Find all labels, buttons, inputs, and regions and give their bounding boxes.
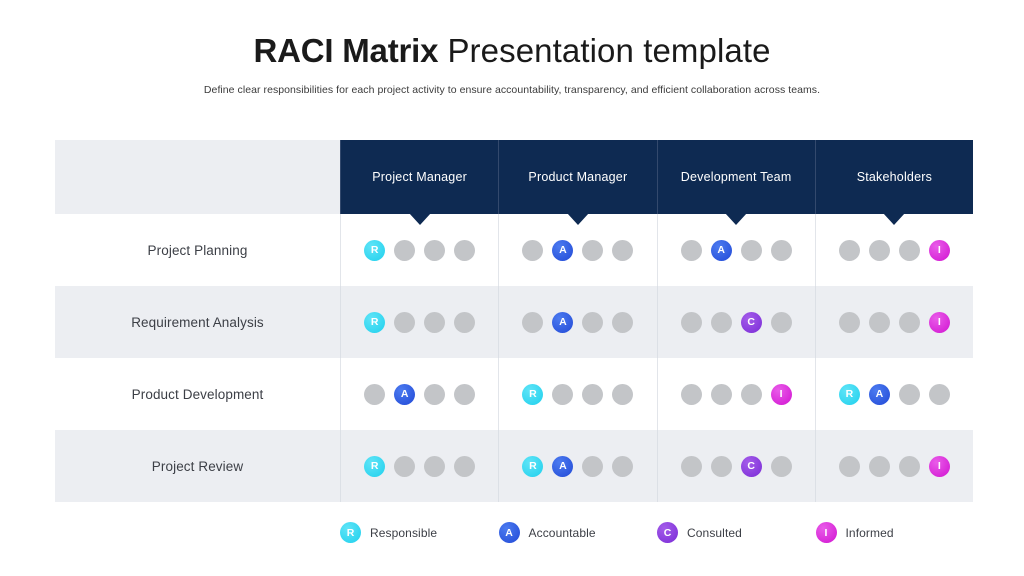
raci-badge-empty: [612, 456, 633, 477]
legend-badge-a: A: [499, 522, 520, 543]
legend-badge-i: I: [816, 522, 837, 543]
raci-badge-empty: [582, 456, 603, 477]
column-header-label: Product Manager: [528, 170, 627, 184]
raci-badge-c[interactable]: C: [741, 456, 762, 477]
raci-badge-empty: [711, 456, 732, 477]
title-light: Presentation template: [447, 32, 770, 69]
raci-badge-empty: [454, 384, 475, 405]
pointer-triangle-icon: [409, 213, 431, 225]
raci-cell[interactable]: A: [340, 358, 498, 430]
raci-cell[interactable]: R: [340, 430, 498, 502]
raci-badge-empty: [899, 240, 920, 261]
raci-cell[interactable]: R: [340, 286, 498, 358]
raci-badge-empty: [424, 456, 445, 477]
raci-badge-empty: [612, 312, 633, 333]
raci-badge-r[interactable]: R: [364, 240, 385, 261]
column-header-stakeholders[interactable]: Stakeholders: [815, 140, 973, 214]
raci-badge-empty: [869, 312, 890, 333]
title-block: RACI Matrix Presentation template Define…: [0, 30, 1024, 97]
pointer-triangle-icon: [725, 213, 747, 225]
legend-item-consulted: CConsulted: [657, 522, 816, 543]
title-strong: RACI Matrix: [253, 32, 438, 69]
raci-badge-empty: [364, 384, 385, 405]
raci-badge-empty: [839, 456, 860, 477]
raci-badge-empty: [929, 384, 950, 405]
raci-badge-empty: [681, 384, 702, 405]
raci-badge-i[interactable]: I: [771, 384, 792, 405]
raci-badge-empty: [741, 384, 762, 405]
raci-cell[interactable]: RA: [815, 358, 973, 430]
raci-badge-a[interactable]: A: [552, 456, 573, 477]
pointer-triangle-icon: [883, 213, 905, 225]
table-row: Product DevelopmentARIRA: [55, 358, 973, 430]
raci-matrix-table: Project Manager Product Manager Developm…: [55, 140, 973, 502]
row-label-cell: Project Planning: [55, 214, 340, 286]
raci-cell[interactable]: I: [657, 358, 815, 430]
raci-badge-empty: [424, 312, 445, 333]
raci-badge-empty: [454, 240, 475, 261]
raci-badge-empty: [839, 312, 860, 333]
raci-badge-empty: [839, 240, 860, 261]
legend-badge-r: R: [340, 522, 361, 543]
raci-badge-empty: [522, 312, 543, 333]
raci-matrix-slide: RACI Matrix Presentation template Define…: [0, 0, 1024, 576]
legend: RResponsibleAAccountableCConsultedIInfor…: [340, 522, 974, 543]
raci-badge-empty: [711, 312, 732, 333]
raci-badge-empty: [582, 240, 603, 261]
legend-badge-c: C: [657, 522, 678, 543]
raci-badge-empty: [899, 312, 920, 333]
raci-badge-empty: [454, 312, 475, 333]
raci-badge-r[interactable]: R: [522, 456, 543, 477]
row-label-cell: Product Development: [55, 358, 340, 430]
raci-badge-empty: [681, 240, 702, 261]
raci-badge-r[interactable]: R: [364, 312, 385, 333]
raci-badge-empty: [552, 384, 573, 405]
table-row: Requirement AnalysisRACI: [55, 286, 973, 358]
page-subtitle: Define clear responsibilities for each p…: [0, 83, 1024, 97]
column-header-label: Project Manager: [372, 170, 467, 184]
row-label: Project Review: [152, 459, 243, 474]
raci-badge-empty: [454, 456, 475, 477]
raci-badge-empty: [771, 456, 792, 477]
raci-badge-a[interactable]: A: [552, 240, 573, 261]
legend-label: Responsible: [370, 526, 437, 540]
raci-badge-empty: [899, 456, 920, 477]
raci-badge-empty: [771, 240, 792, 261]
raci-badge-i[interactable]: I: [929, 240, 950, 261]
raci-cell[interactable]: C: [657, 430, 815, 502]
raci-badge-empty: [394, 312, 415, 333]
raci-badge-a[interactable]: A: [869, 384, 890, 405]
raci-badge-empty: [741, 240, 762, 261]
raci-badge-empty: [424, 384, 445, 405]
legend-item-informed: IInformed: [816, 522, 975, 543]
column-header-project-manager[interactable]: Project Manager: [340, 140, 498, 214]
raci-badge-empty: [681, 312, 702, 333]
raci-badge-r[interactable]: R: [839, 384, 860, 405]
raci-badge-empty: [869, 456, 890, 477]
column-header-development-team[interactable]: Development Team: [657, 140, 815, 214]
raci-badge-empty: [394, 240, 415, 261]
row-label-cell: Project Review: [55, 430, 340, 502]
column-header-product-manager[interactable]: Product Manager: [498, 140, 656, 214]
pointer-triangle-icon: [567, 213, 589, 225]
legend-item-responsible: RResponsible: [340, 522, 499, 543]
table-row: Project PlanningRAAI: [55, 214, 973, 286]
raci-badge-r[interactable]: R: [522, 384, 543, 405]
raci-badge-empty: [869, 240, 890, 261]
matrix-corner-cell: [55, 140, 340, 214]
raci-badge-empty: [612, 384, 633, 405]
row-label: Requirement Analysis: [131, 315, 264, 330]
table-row: Project ReviewRRACI: [55, 430, 973, 502]
raci-badge-empty: [612, 240, 633, 261]
row-label-cell: Requirement Analysis: [55, 286, 340, 358]
raci-badge-empty: [424, 240, 445, 261]
raci-badge-i[interactable]: I: [929, 312, 950, 333]
legend-label: Consulted: [687, 526, 742, 540]
legend-label: Accountable: [529, 526, 596, 540]
raci-badge-empty: [681, 456, 702, 477]
raci-badge-r[interactable]: R: [364, 456, 385, 477]
raci-badge-i[interactable]: I: [929, 456, 950, 477]
raci-badge-empty: [582, 384, 603, 405]
raci-badge-empty: [394, 456, 415, 477]
raci-badge-empty: [582, 312, 603, 333]
page-title: RACI Matrix Presentation template: [0, 30, 1024, 72]
matrix-body: Project PlanningRAAIRequirement Analysis…: [55, 214, 973, 502]
raci-badge-a[interactable]: A: [552, 312, 573, 333]
row-label: Product Development: [132, 387, 264, 402]
raci-badge-empty: [522, 240, 543, 261]
raci-badge-empty: [711, 384, 732, 405]
raci-cell[interactable]: R: [498, 358, 656, 430]
row-label: Project Planning: [148, 243, 248, 258]
raci-badge-empty: [899, 384, 920, 405]
raci-cell[interactable]: C: [657, 286, 815, 358]
raci-cell[interactable]: I: [815, 286, 973, 358]
matrix-header-row: Project Manager Product Manager Developm…: [55, 140, 973, 214]
raci-cell[interactable]: A: [498, 286, 656, 358]
raci-badge-a[interactable]: A: [711, 240, 732, 261]
raci-badge-empty: [771, 312, 792, 333]
column-header-label: Development Team: [681, 170, 792, 184]
raci-cell[interactable]: I: [815, 430, 973, 502]
raci-badge-c[interactable]: C: [741, 312, 762, 333]
legend-item-accountable: AAccountable: [499, 522, 658, 543]
raci-cell[interactable]: RA: [498, 430, 656, 502]
legend-label: Informed: [846, 526, 894, 540]
column-header-label: Stakeholders: [857, 170, 932, 184]
raci-badge-a[interactable]: A: [394, 384, 415, 405]
